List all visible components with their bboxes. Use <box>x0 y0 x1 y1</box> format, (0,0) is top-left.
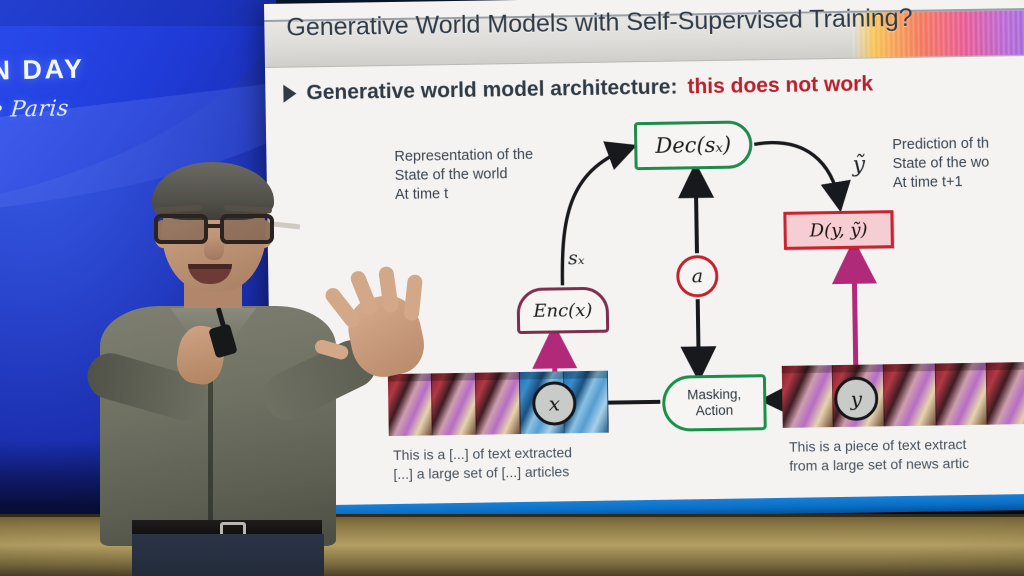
bullet-emphasis: this does not work <box>687 72 873 99</box>
speaker-figure <box>92 168 392 576</box>
film-frame <box>987 362 1024 425</box>
film-frame <box>884 363 936 426</box>
caption-right: This is a piece of text extract from a l… <box>789 435 969 476</box>
film-frame <box>432 373 477 436</box>
caption-left: This is a [...] of text extracted [...] … <box>393 443 573 484</box>
note-left-line2: State of the world <box>395 165 534 186</box>
note-left-line3: At time t <box>395 184 534 205</box>
left-screen-subtitle: nce Paris <box>0 93 203 123</box>
glasses-temple <box>274 222 300 230</box>
node-masking-action: Masking, Action <box>662 374 767 432</box>
film-frame <box>935 363 987 426</box>
film-frames-right <box>782 362 1024 428</box>
speaker-nose <box>204 236 224 260</box>
label-sx: sₓ <box>568 247 585 269</box>
screenshot-stage: TION DAY nce Paris Generative World Mode… <box>0 0 1024 576</box>
film-frame <box>388 373 433 436</box>
speaker-trousers <box>132 534 324 576</box>
film-frame <box>476 372 521 435</box>
note-left-line1: Representation of the <box>394 146 533 167</box>
note-right-line1: Prediction of th <box>892 135 989 156</box>
lens-right <box>220 214 274 244</box>
caption-left-line2: [...] a large set of [...] articles <box>393 462 572 484</box>
caption-right-line2: from a large set of news artic <box>789 454 969 476</box>
node-action: a <box>676 255 719 298</box>
mask-line-2: Action <box>696 403 734 420</box>
lens-left <box>154 214 208 244</box>
triangle-bullet-icon <box>283 85 296 103</box>
note-left-representation: Representation of the State of the world… <box>394 146 534 206</box>
note-right-prediction: Prediction of th State of the wo At time… <box>892 135 990 194</box>
note-right-line3: At time t+1 <box>893 173 990 194</box>
film-frame <box>782 365 834 428</box>
mask-line-1: Masking, <box>687 386 741 403</box>
label-y-tilde: ỹ <box>852 153 865 178</box>
image-strip-right <box>782 362 1024 428</box>
node-encoder: Enc(x) <box>516 287 609 334</box>
left-screen-title: TION DAY <box>0 51 198 87</box>
note-right-line2: State of the wo <box>892 154 989 175</box>
node-cost-function: D(y, ỹ) <box>783 210 894 250</box>
node-decoder: Dec(sₓ) <box>634 120 753 170</box>
